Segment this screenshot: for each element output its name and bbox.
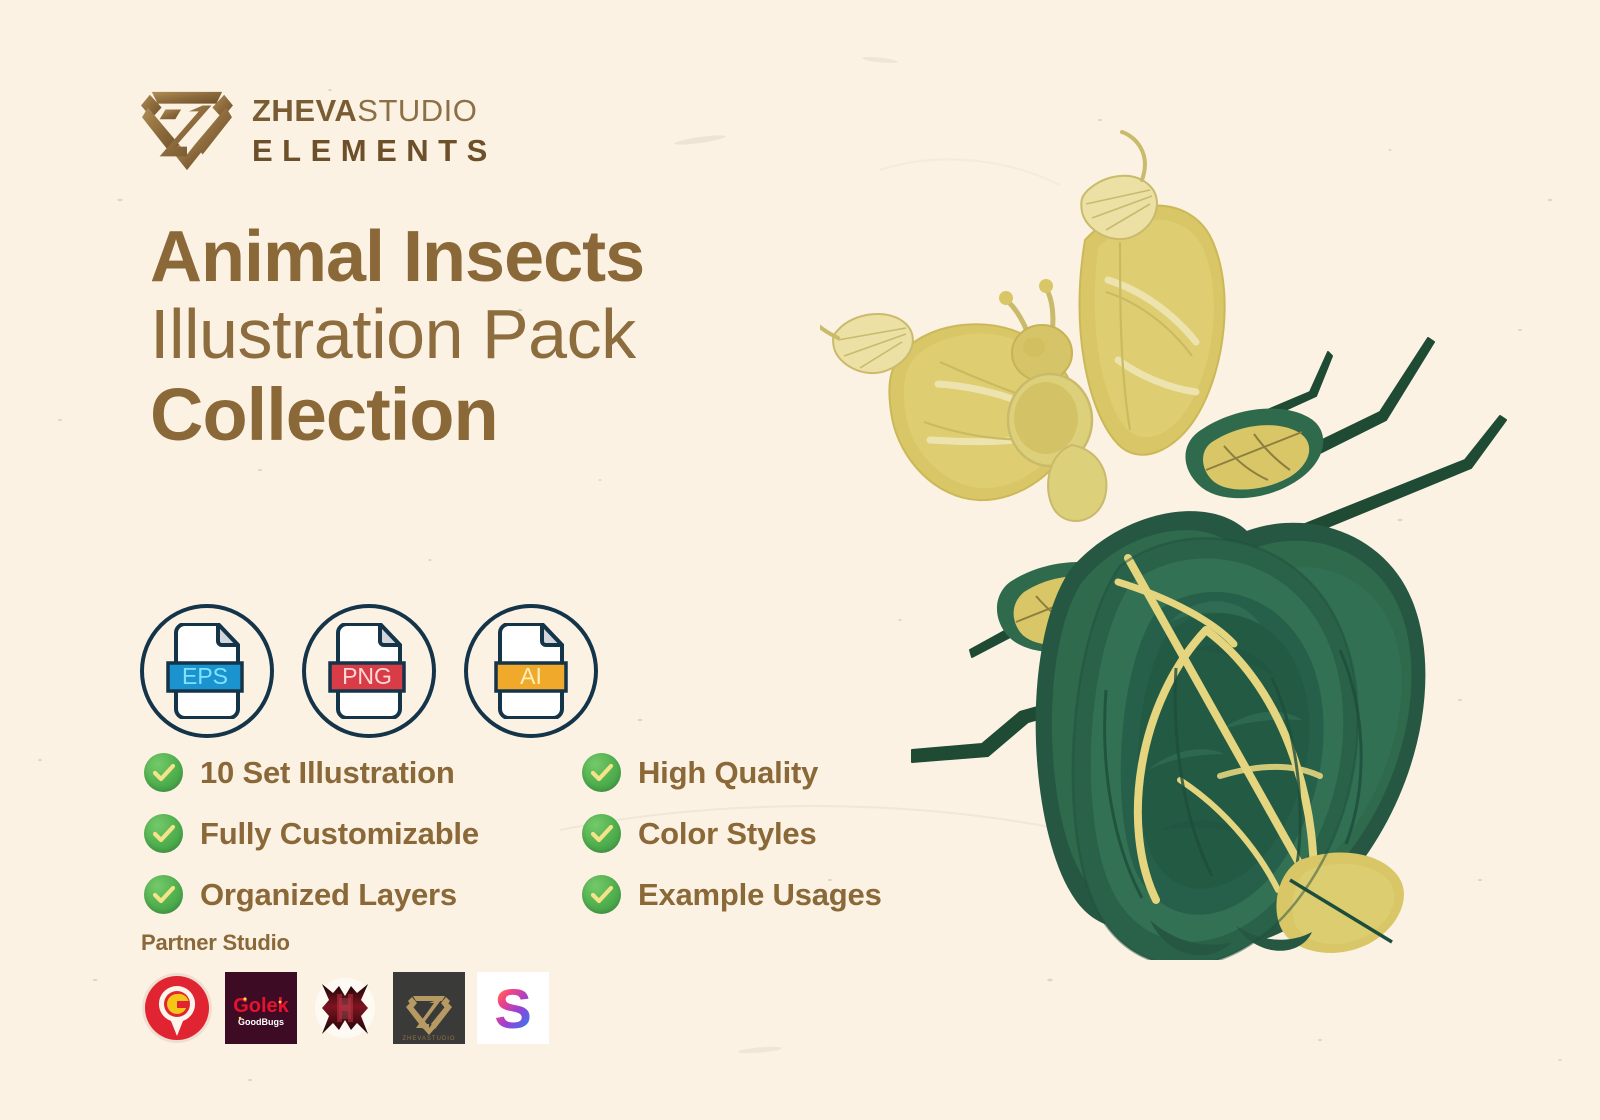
poster-canvas: ZHEVASTUDIO ELEMENTS Animal Insects Illu… — [0, 0, 1600, 1120]
partner-logo-zheva-studio[interactable]: ZHEVASTUDIO — [393, 972, 465, 1044]
partner-logo-s-gradient[interactable]: S — [477, 972, 549, 1044]
partner-studio-title: Partner Studio — [141, 930, 549, 956]
brand-zheva: ZHEVA — [252, 93, 357, 128]
check-circle-icon — [144, 753, 183, 792]
check-circle-icon — [582, 875, 621, 914]
feature-label: 10 Set Illustration — [200, 755, 455, 791]
format-label: PNG — [342, 663, 392, 689]
brand-elements: ELEMENTS — [252, 135, 497, 166]
s-gradient-icon: S — [477, 972, 549, 1044]
feature-item: Organized Layers — [144, 864, 479, 925]
feature-label: Color Styles — [638, 816, 816, 852]
check-circle-icon — [144, 814, 183, 853]
leaf-insect-illustration — [820, 130, 1600, 960]
format-label: AI — [520, 663, 542, 689]
golek-wordmark: Golek — [233, 995, 289, 1017]
check-circle-icon — [582, 814, 621, 853]
feature-list-left: 10 Set Illustration Fully Customizable O… — [144, 742, 479, 925]
feature-label: Organized Layers — [200, 877, 457, 913]
eps-file-icon: EPS — [166, 623, 248, 719]
title-line-2: Illustration Pack — [150, 296, 890, 372]
golek-icon: Golek GoodBugs — [225, 972, 297, 1044]
format-badge-eps[interactable]: EPS — [140, 604, 274, 738]
partner-logo-h-gaming[interactable] — [309, 972, 381, 1044]
format-badge-png[interactable]: PNG — [302, 604, 436, 738]
partner-logo-golek[interactable]: Golek GoodBugs — [225, 972, 297, 1044]
feature-item: 10 Set Illustration — [144, 742, 479, 803]
brand-studio: STUDIO — [357, 93, 477, 128]
h-gaming-icon — [309, 972, 381, 1044]
partner-logo-row: Golek GoodBugs — [141, 972, 549, 1044]
check-circle-icon — [582, 753, 621, 792]
partner-logo-gobug-pin[interactable] — [141, 972, 213, 1044]
s-letter: S — [494, 977, 531, 1040]
brand-line-one: ZHEVASTUDIO — [252, 95, 497, 126]
zheva-studio-dark-icon: ZHEVASTUDIO — [393, 972, 465, 1044]
brand-wordmark: ZHEVASTUDIO ELEMENTS — [252, 95, 497, 166]
feature-item: Fully Customizable — [144, 803, 479, 864]
format-badge-ai[interactable]: AI — [464, 604, 598, 738]
title-line-1: Animal Insects — [150, 218, 890, 296]
gobug-pin-icon — [141, 972, 213, 1044]
brand-logo[interactable]: ZHEVASTUDIO ELEMENTS — [138, 86, 497, 174]
zheva-dark-wordmark: ZHEVASTUDIO — [402, 1036, 455, 1042]
golek-subtext: GoodBugs — [238, 1017, 284, 1027]
feature-label: High Quality — [638, 755, 818, 791]
check-circle-icon — [144, 875, 183, 914]
page-title: Animal Insects Illustration Pack Collect… — [150, 218, 890, 455]
leaf-insect-artwork — [820, 130, 1600, 960]
title-line-3: Collection — [150, 375, 890, 456]
png-file-icon: PNG — [328, 623, 410, 719]
partner-studio-section: Partner Studio Golek GoodBugs — [141, 930, 549, 1044]
format-label: EPS — [182, 663, 228, 689]
feature-label: Fully Customizable — [200, 816, 479, 852]
file-format-badges: EPS PNG AI — [140, 604, 598, 738]
ai-file-icon: AI — [490, 623, 572, 719]
diamond-z-icon — [138, 86, 236, 174]
